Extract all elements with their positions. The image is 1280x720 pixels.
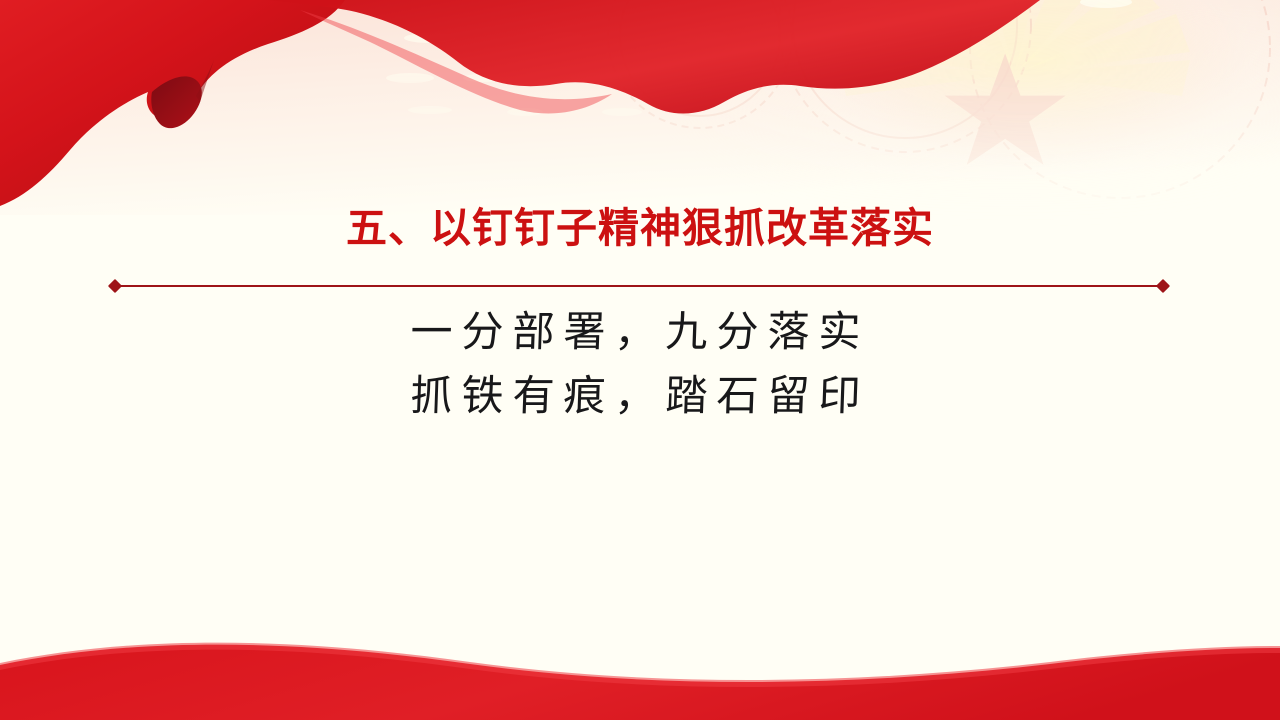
body-line-2: 抓铁有痕，踏石留印 xyxy=(0,364,1280,428)
title-block: 五、以钉钉子精神狠抓改革落实 xyxy=(0,204,1280,252)
page-title: 五、以钉钉子精神狠抓改革落实 xyxy=(0,204,1280,252)
body-text-block: 一分部署，九分落实 抓铁有痕，踏石留印 xyxy=(0,300,1280,428)
title-divider xyxy=(110,278,1168,294)
body-line-1: 一分部署，九分落实 xyxy=(0,300,1280,364)
divider-rule xyxy=(116,285,1162,287)
watermark-star-shape xyxy=(945,53,1066,164)
presentation-slide: 五、以钉钉子精神狠抓改革落实 一分部署，九分落实 抓铁有痕，踏石留印 xyxy=(0,0,1280,720)
divider-diamond-right-icon xyxy=(1156,279,1170,293)
